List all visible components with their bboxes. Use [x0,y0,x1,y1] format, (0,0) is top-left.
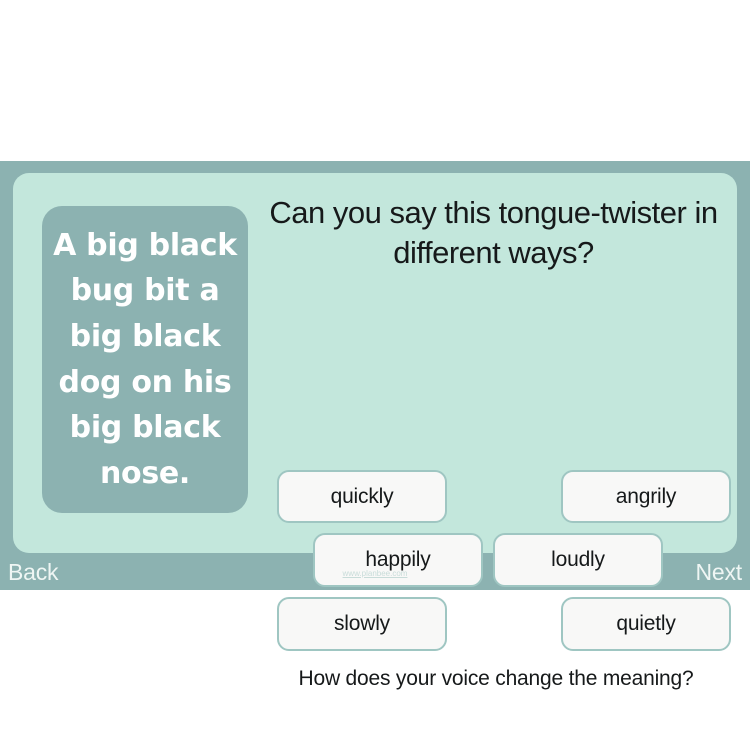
tongue-twister-text: A big black bug bit a big black dog on h… [53,223,237,497]
word-card-label: quickly [331,485,394,509]
word-card-label: slowly [334,612,390,636]
word-card-quickly[interactable]: quickly [277,470,447,523]
tongue-twister-card: A big black bug bit a big black dog on h… [42,206,248,513]
footer-url-link[interactable]: www.planbee.com [0,569,750,578]
word-card-slowly[interactable]: slowly [277,597,447,651]
word-card-angrily[interactable]: angrily [561,470,731,523]
page-canvas: A big black bug bit a big black dog on h… [0,0,750,750]
activity-column: Can you say this tongue-twister in diffe… [261,193,726,543]
word-card-label: quietly [616,612,675,636]
word-card-loudly[interactable]: loudly [493,533,663,587]
sub-question-text: How does your voice change the meaning? [261,667,731,691]
word-card-label: angrily [616,485,676,509]
slide-frame: A big black bug bit a big black dog on h… [0,161,750,590]
slide-content-panel: A big black bug bit a big black dog on h… [13,173,737,553]
word-card-happily[interactable]: happily [313,533,483,587]
page-title: Can you say this tongue-twister in diffe… [261,193,726,272]
word-card-quietly[interactable]: quietly [561,597,731,651]
